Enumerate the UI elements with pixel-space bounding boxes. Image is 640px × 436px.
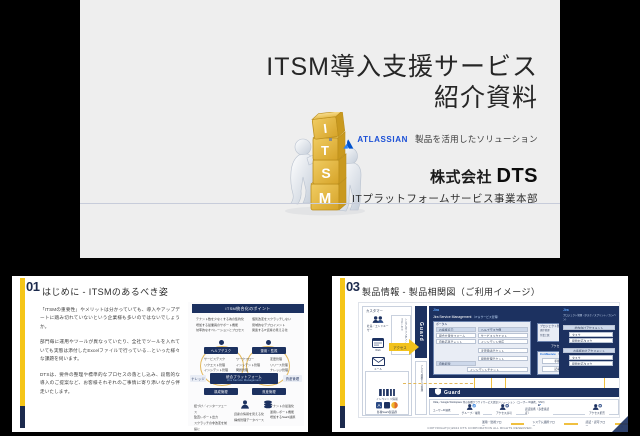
slide-number: 01 — [26, 279, 39, 294]
diagram-node: 運用・監視 — [252, 347, 286, 354]
diagram-bullets-right: 個別改変をスクラッチしない 閉域的なデプロイメント 関連するIT資産の見える化 — [252, 317, 302, 334]
user-ok-icon: 認証連携（多要素認証） — [525, 404, 553, 415]
connector — [491, 378, 492, 388]
platform-node: 統合プラットフォーム Jira Service Management — [210, 373, 278, 384]
jira-group-2-title: お客様向けアセスメント — [563, 348, 615, 353]
people-group-icon: 社員／エンドユーザー — [367, 316, 389, 332]
partner-line: ATLASSIAN 製品を活用したソリューション — [329, 133, 538, 145]
diagram-node: ナレッジ — [190, 375, 206, 382]
bullet-item: 関連するIT資産の見える化 — [252, 328, 302, 334]
platform-sub: Jira Service Management — [210, 379, 278, 382]
icon-caption: 社員／エンドユーザー — [367, 324, 389, 332]
paragraph: DTSは、要件の整理や標準的なプロセスの落とし込み、段階的な導入のご提案など、お… — [40, 371, 180, 396]
row-cell: インシデント対応 — [478, 339, 528, 344]
connector — [474, 378, 475, 388]
icon-caption: アクセス拒否 — [589, 411, 605, 415]
accent-bar-foot — [340, 406, 345, 428]
icon-caption: Web — [375, 349, 381, 352]
company-jp: 株式会社 — [430, 169, 492, 186]
diagram-bottom-right: テナントの最適化 運用レポート機能 増加するSaaS連携 — [270, 404, 304, 421]
database-icon — [263, 396, 273, 414]
user-check-icon: グループ／権限 — [459, 404, 483, 415]
bullet-icon — [329, 138, 332, 141]
title-line-1: ITSM導入支援サービス — [266, 52, 538, 83]
diagram-node: ヘルプデスク — [204, 347, 238, 354]
slide-thumbnail-03[interactable]: 03 製品情報 - 製品相関図（ご利用イメージ） カスタマー 社員／エンドユーザ… — [332, 276, 628, 432]
partner-tagline: 製品を活用したソリューション — [415, 133, 538, 145]
dashed-connector — [403, 383, 473, 384]
product-relation-diagram: カスタマー 社員／エンドユーザー Web メール 監視システム インベントリ情報 — [358, 302, 620, 418]
connector — [604, 378, 605, 388]
bullet-item: 増加するSaaS連携 — [270, 415, 304, 421]
jira-right-title: Jira — [563, 308, 569, 312]
people-icon — [240, 396, 250, 414]
mail-icon: メール — [367, 357, 389, 371]
bullet-item: スクラッチの非改変を前提に — [194, 421, 228, 432]
accent-bar — [20, 278, 25, 413]
bullet-item: 効率的なオペレーションとプロセス — [196, 328, 246, 334]
diagram-bullets-left: テナント数を少なくする為の集約化 増加する従業員のサポート機能 効率的なオペレー… — [196, 317, 246, 334]
atlassian-logo-icon — [343, 136, 353, 145]
project-item: 作業工数 — [540, 334, 550, 339]
diagram-mid-right: 変更管理 リリース管理 ナレッジ管理 — [270, 357, 300, 374]
screenshot-canvas: M S T I — [0, 0, 640, 436]
user-x-icon: アクセス許可 — [492, 404, 516, 415]
jira-group-1-item: タスク — [569, 332, 613, 337]
connector — [505, 378, 506, 388]
jira-group-2-item: タスク — [569, 355, 613, 360]
web-form-icon: Web — [367, 337, 389, 353]
copyright-text: COPYRIGHT(C)2024 DTS CORPORATION ALL RIG… — [427, 426, 532, 430]
row-cell: サービスリクエスト — [478, 333, 528, 338]
svg-text:S: S — [321, 165, 330, 181]
confluence-title-text: Confluence — [540, 352, 556, 356]
jsm-title-text: Jira Service Management — [433, 315, 471, 319]
icon-caption: グループ／権限 — [462, 411, 481, 415]
diagram-bottom-left: 紐づけ／インターフェース 監査レポート出力 スクラッチの非改変を前提に — [194, 404, 228, 432]
diagram-mid-left: サービスデスク リクエスト管理 インシデント管理 — [204, 357, 234, 374]
page-title: ITSM導入支援サービス 紹介資料 — [266, 52, 538, 113]
row-cell: 問合せ受付フォーム — [436, 333, 476, 338]
user-deny-icon: アクセス拒否 — [585, 404, 609, 415]
title-line-2: 紹介資料 — [266, 83, 538, 114]
company-block: 株式会社 DTS ITプラットフォームサービス事業本部 — [352, 165, 538, 206]
partner-name: ATLASSIAN — [357, 135, 408, 144]
legend-swatch — [564, 423, 577, 424]
copyright-footer: COPYRIGHT(C)2024 DTS CORPORATION ALL RIG… — [332, 426, 628, 430]
jira-group-2-item: 問題対応タスク — [569, 361, 613, 366]
slide-heading: 製品情報 - 製品相関図（ご利用イメージ） — [362, 285, 540, 298]
jsm-title: Jira Service Management （IT＆サービス管理） — [433, 315, 500, 319]
title-slide: M S T I — [80, 0, 560, 258]
jira-right-sub: プロジェクト管理（タスク／スプリント／カンバン） — [563, 314, 617, 321]
paragraph: 「ITSMの重要性」やメリットは分かっていても、導入やアップデートに踏み切れてい… — [40, 306, 180, 331]
row-cell: 自動応答チャット — [436, 339, 476, 344]
row-cell: 自動起票 — [436, 361, 476, 366]
icon-caption: 認証連携（多要素認証） — [525, 407, 553, 415]
col-header-left: お客様窓口 — [436, 327, 476, 332]
inventory-icon: インベントリ情報 — [368, 389, 406, 401]
shield-icon — [435, 388, 441, 397]
itsm-diagram: ITSM統合化のポイント テナント数を少なくする為の集約化 増加する従業員のサポ… — [188, 302, 304, 426]
col-header-right: ヘルプデスク側 — [478, 327, 528, 332]
legend-swatch — [511, 423, 524, 424]
corner-decoration — [612, 416, 628, 432]
svg-text:M: M — [319, 190, 332, 207]
bullet-item: 構成管理データベース — [232, 418, 266, 424]
svg-text:アクセス: アクセス — [393, 345, 407, 350]
accent-bar — [340, 278, 345, 413]
accent-bar-foot — [20, 406, 25, 428]
body-text: 「ITSMの重要性」やメリットは分かっていても、導入やアップデートに踏み切れてい… — [40, 306, 180, 403]
project-items: 進捗管理 作業工数 — [540, 329, 550, 338]
row-cell: 変更申請チケット — [478, 348, 528, 353]
access-arrow-icon: アクセス — [389, 339, 419, 360]
slide-number: 03 — [346, 279, 359, 294]
guard-people-label: ユーザーID連携 — [433, 408, 450, 412]
divider — [80, 203, 560, 204]
slide-heading: はじめに - ITSMのあるべき姿 — [42, 285, 168, 298]
project-item: 進捗管理 — [540, 329, 550, 334]
company-brand: DTS — [497, 165, 539, 187]
icon-caption: 各種SaaS製品群 — [377, 410, 397, 414]
row-cell: 問題管理チケット — [478, 356, 528, 361]
jira-group-1-title: 社内向けアセスメント — [563, 325, 615, 330]
diagram-node: 資産管理 — [252, 388, 286, 395]
jira-header-label: Jira — [433, 308, 439, 312]
jsm-sub: （IT＆サービス管理） — [472, 315, 500, 319]
bullet-item: テナント数を少なくする為の集約化 — [196, 317, 246, 323]
node-dot — [266, 340, 271, 345]
diagram-node: 資産管理 — [283, 375, 302, 382]
portal-label: ポータル — [436, 322, 447, 326]
apps-icon: A 各種SaaS製品群 — [368, 402, 406, 414]
bullet-item: 紐づけ／インターフェース — [194, 404, 228, 415]
diagram-mid-center: ワークフロー インシデント管理 問題管理 — [236, 357, 266, 374]
icon-caption: アクセス許可 — [496, 411, 512, 415]
row-cell: インシデントチケット — [467, 367, 528, 372]
paragraph: 部門毎に運用やツールが異なっていたり、全社でツールを入れていても実態は添付したE… — [40, 338, 180, 363]
node-dot — [219, 340, 224, 345]
customer-label: カスタマー — [366, 308, 383, 313]
diagram-node: 構成管理 — [204, 388, 238, 395]
guard-band-label: Guard — [444, 390, 461, 396]
guard-band: Guard — [429, 388, 619, 397]
slide-thumbnail-01[interactable]: 01 はじめに - ITSMのあるべき姿 「ITSMの重要性」やメリットは分かっ… — [12, 276, 308, 432]
icon-caption: インベントリ情報 — [376, 397, 398, 401]
svg-text:T: T — [321, 143, 329, 158]
jira-group-1-item: 問題対応タスク — [569, 338, 613, 343]
side-note-2: アクセス制御とログ管理 — [419, 365, 423, 411]
diagram-title: ITSM統合化のポイント — [192, 304, 304, 313]
